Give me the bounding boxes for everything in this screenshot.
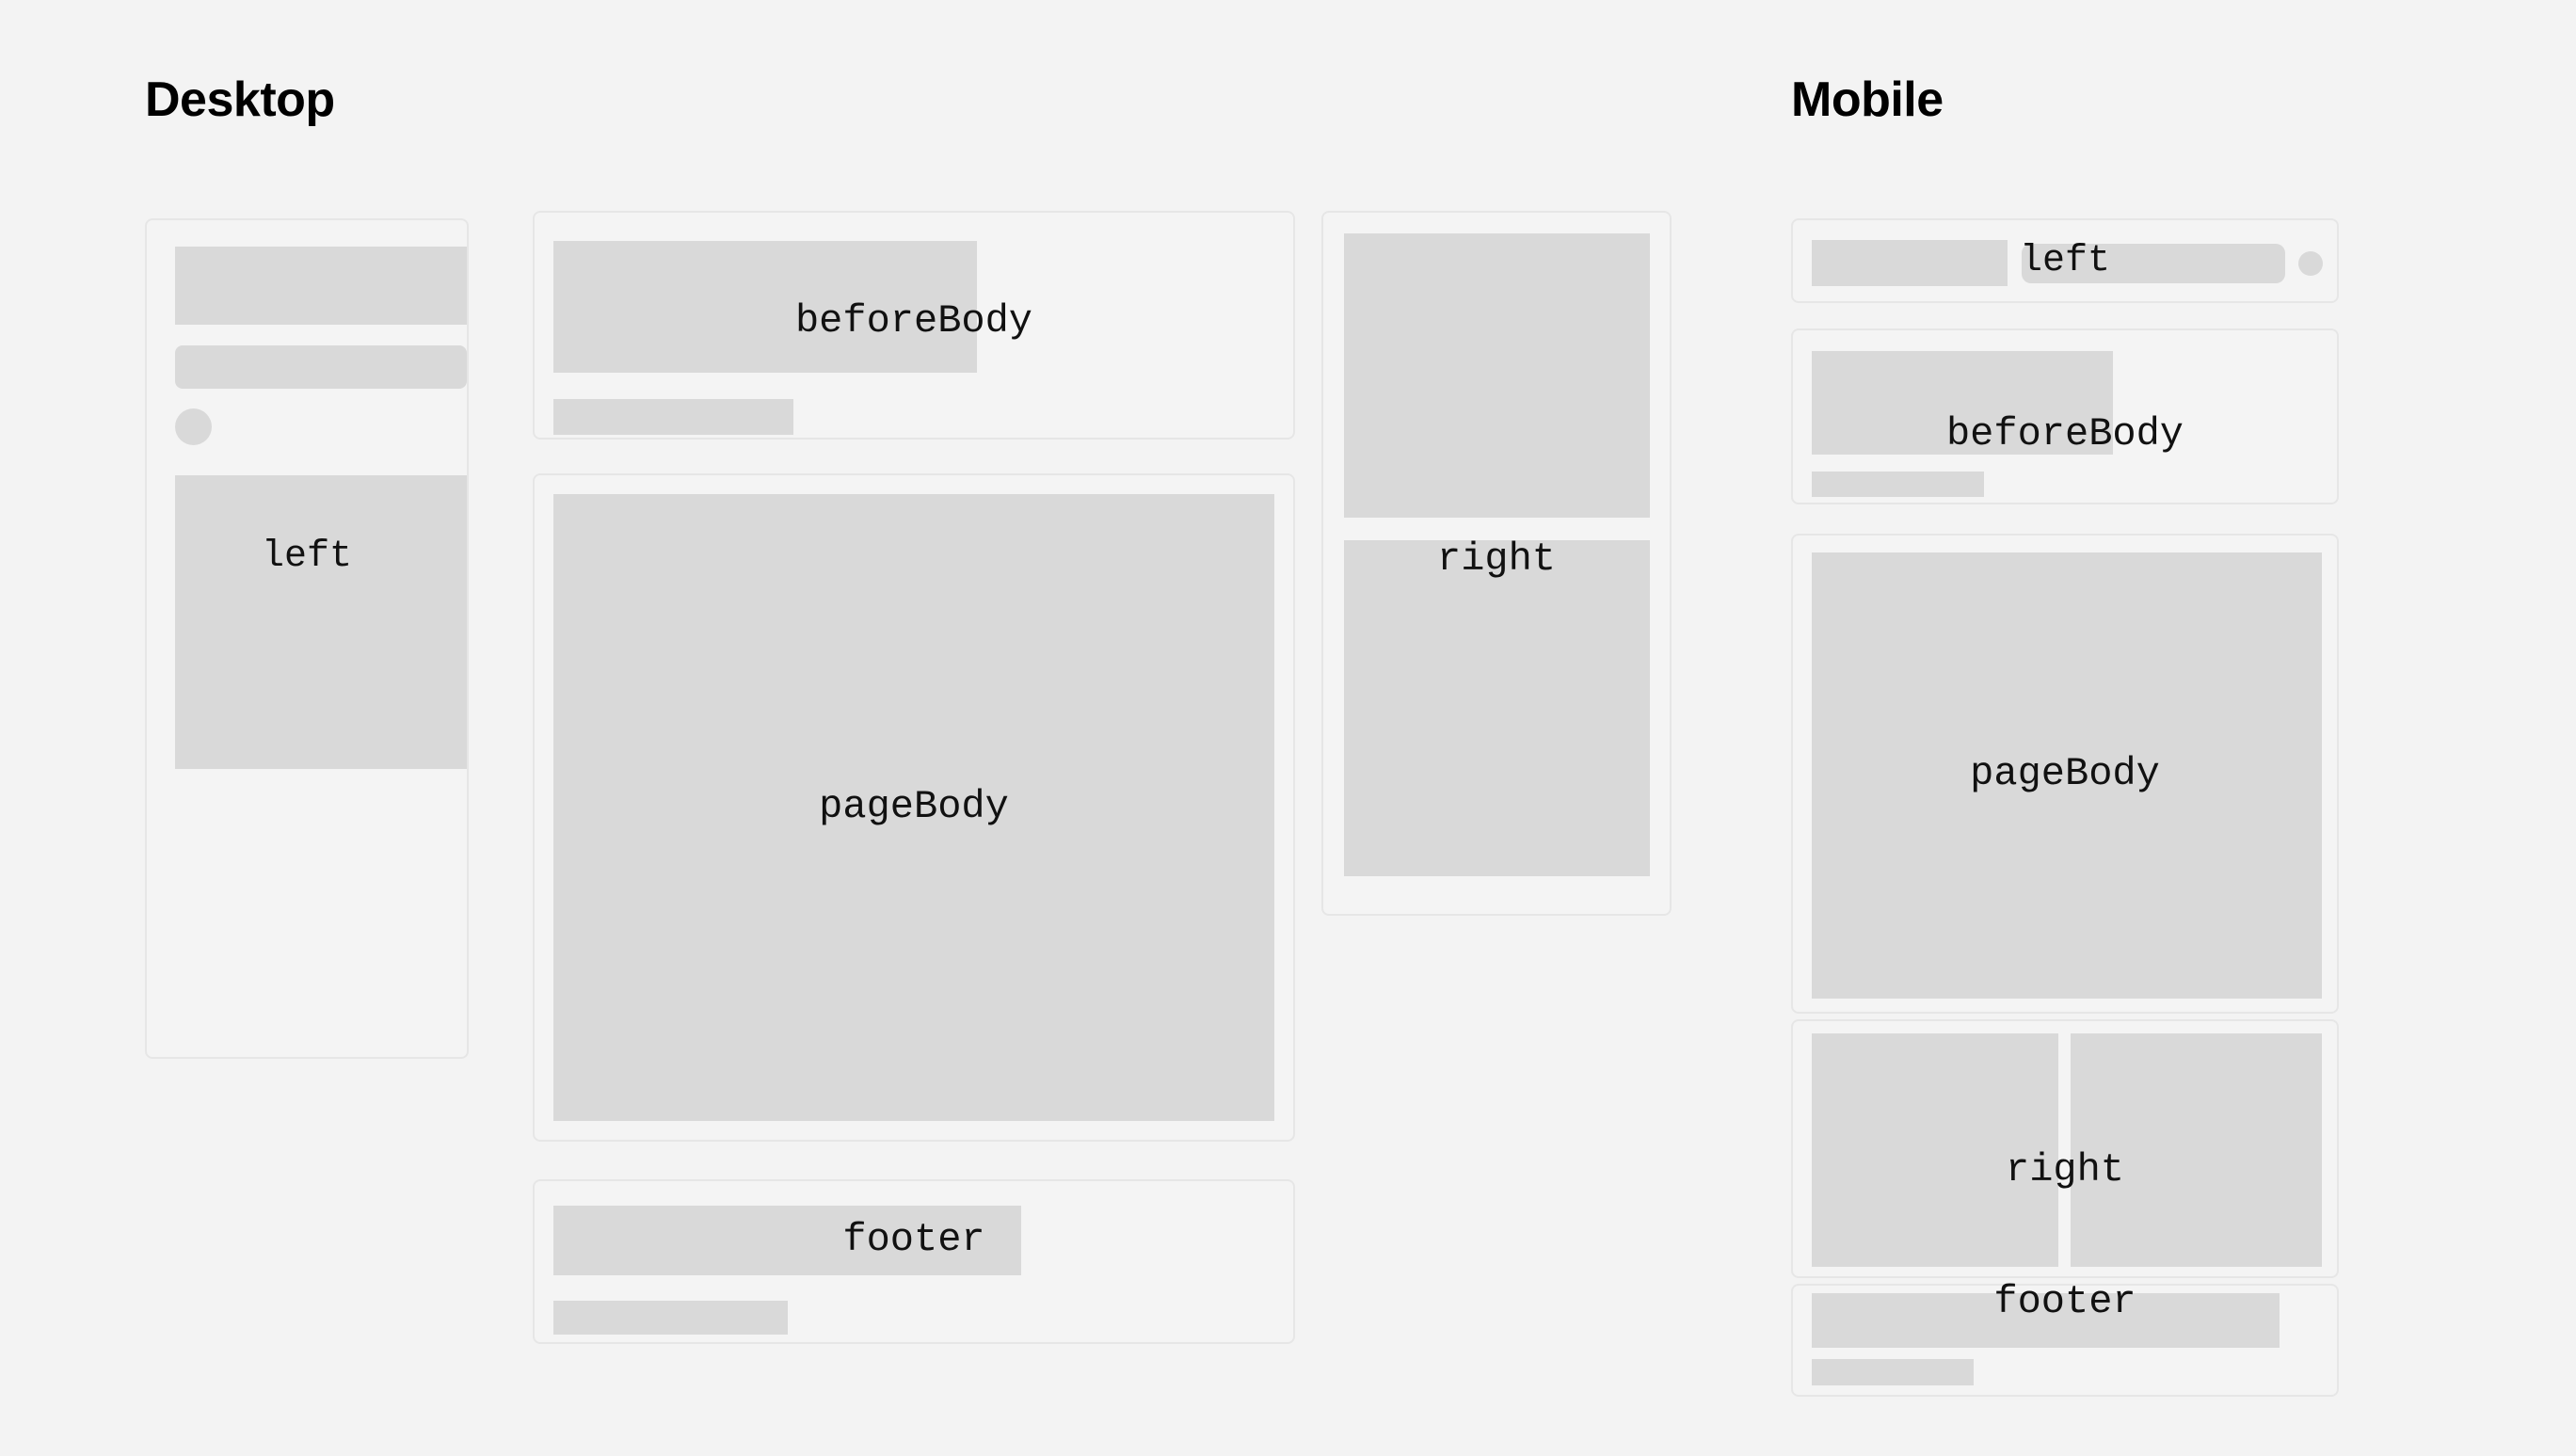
desktop-left-panel[interactable] [145,218,469,1059]
desktop-section-title: Desktop [145,75,335,124]
mobile-right-left-block [1812,1033,2058,1267]
desktop-footer-secondary-block [553,1301,788,1335]
desktop-footer-primary-block [553,1206,1021,1275]
desktop-left-header-block [175,247,467,325]
mobile-section-title: Mobile [1791,75,1944,124]
desktop-before-body-secondary-block [553,399,793,435]
mobile-right-panel[interactable] [1791,1019,2339,1278]
mobile-before-body-primary-block [1812,351,2113,455]
desktop-page-body-block [553,494,1274,1121]
desktop-right-top-block [1344,233,1650,518]
desktop-before-body-panel[interactable] [533,211,1295,440]
desktop-footer-panel[interactable] [533,1179,1295,1344]
wireframe-stage: Desktop left beforeBody pageBody footer … [0,0,2576,1456]
mobile-before-body-panel[interactable] [1791,328,2339,504]
mobile-left-avatar-block [2298,251,2323,276]
mobile-page-body-panel[interactable] [1791,534,2339,1014]
mobile-footer-secondary-block [1812,1359,1974,1385]
mobile-footer-panel[interactable] [1791,1284,2339,1397]
desktop-page-body-panel[interactable] [533,473,1295,1142]
desktop-before-body-primary-block [553,241,977,373]
mobile-page-body-block [1812,552,2322,999]
desktop-right-panel[interactable] [1321,211,1672,916]
mobile-before-body-secondary-block [1812,472,1984,497]
mobile-left-panel[interactable] [1791,218,2339,303]
mobile-left-header-block [1812,240,2008,286]
mobile-right-right-block [2071,1033,2322,1267]
desktop-left-content-block [175,475,467,769]
desktop-left-subheader-block [175,345,467,389]
desktop-left-avatar-block [175,408,212,445]
desktop-right-bottom-block [1344,540,1650,876]
mobile-footer-primary-block [1812,1293,2280,1348]
mobile-left-subheader-block [2022,244,2285,283]
